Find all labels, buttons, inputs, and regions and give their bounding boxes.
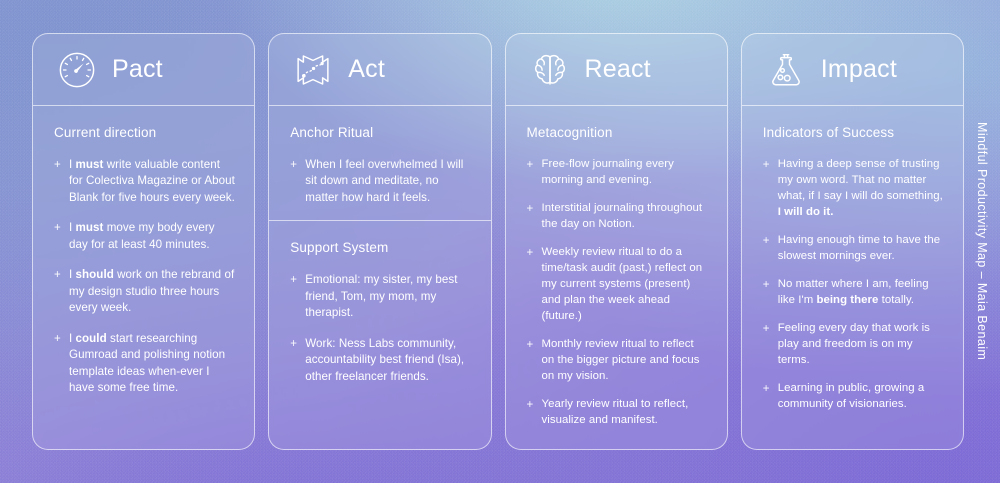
card-body-act: Anchor Ritual+When I feel overwhelmed I … <box>269 106 490 449</box>
card-title-act: Act <box>348 57 385 82</box>
bullet-item[interactable]: +Having enough time to have the slowest … <box>763 233 945 265</box>
card-body-pact: Current direction+I must write valuable … <box>33 106 254 449</box>
section-impact-0: Indicators of Success+Having a deep sens… <box>742 106 963 417</box>
bullet-item[interactable]: +Feeling every day that work is play and… <box>763 321 945 369</box>
section-react-0: Metacognition+Free-flow journaling every… <box>506 106 727 433</box>
bullet-marker-icon: + <box>763 381 770 413</box>
bullet-marker-icon: + <box>54 157 61 206</box>
bullet-item[interactable]: +I could start researching Gumroad and p… <box>54 331 236 397</box>
bullet-text: When I feel overwhelmed I will sit down … <box>305 157 472 206</box>
bullet-item[interactable]: +Free-flow journaling every morning and … <box>527 157 709 189</box>
bullet-list: +Emotional: my sister, my best friend, T… <box>290 272 472 385</box>
bullet-marker-icon: + <box>527 337 534 385</box>
bullet-text: Monthly review ritual to reflect on the … <box>542 337 709 385</box>
card-header-react: React <box>506 34 727 106</box>
bullet-item[interactable]: +Yearly review ritual to reflect, visual… <box>527 397 709 429</box>
bullet-text: Emotional: my sister, my best friend, To… <box>305 272 472 321</box>
bullet-item[interactable]: +I must write valuable content for Colec… <box>54 157 236 206</box>
bullet-marker-icon: + <box>527 245 534 325</box>
bullet-list: +Free-flow journaling every morning and … <box>527 157 709 429</box>
bullet-marker-icon: + <box>763 277 770 309</box>
bullet-list: +Having a deep sense of trusting my own … <box>763 157 945 413</box>
bullet-marker-icon: + <box>527 201 534 233</box>
card-body-react: Metacognition+Free-flow journaling every… <box>506 106 727 449</box>
bullet-marker-icon: + <box>763 321 770 369</box>
bullet-item[interactable]: +Monthly review ritual to reflect on the… <box>527 337 709 385</box>
bullet-text: Yearly review ritual to reflect, visuali… <box>542 397 709 429</box>
bullet-text: I should work on the rebrand of my desig… <box>69 267 236 316</box>
bullet-marker-icon: + <box>290 157 297 206</box>
section-title: Support System <box>290 240 472 255</box>
card-header-impact: Impact <box>742 34 963 106</box>
bullet-text: Free-flow journaling every morning and e… <box>542 157 709 189</box>
bullet-text: I must write valuable content for Colect… <box>69 157 236 206</box>
bullet-item[interactable]: +I should work on the rebrand of my desi… <box>54 267 236 316</box>
bullet-marker-icon: + <box>763 157 770 221</box>
bullet-text: I must move my body every day for at lea… <box>69 220 236 253</box>
section-title: Current direction <box>54 125 236 140</box>
card-title-react: React <box>585 57 651 82</box>
bullet-marker-icon: + <box>763 233 770 265</box>
card-act[interactable]: ActAnchor Ritual+When I feel overwhelmed… <box>268 33 491 450</box>
bullet-marker-icon: + <box>290 272 297 321</box>
section-act-0: Anchor Ritual+When I feel overwhelmed I … <box>269 106 490 210</box>
map-route-icon <box>291 48 335 92</box>
section-act-1: Support System+Emotional: my sister, my … <box>269 220 490 389</box>
bullet-text: I could start researching Gumroad and po… <box>69 331 236 397</box>
bullet-list: +I must write valuable content for Colec… <box>54 157 236 396</box>
card-header-pact: Pact <box>33 34 254 106</box>
card-pact[interactable]: PactCurrent direction+I must write valua… <box>32 33 255 450</box>
card-grid: PactCurrent direction+I must write valua… <box>32 33 964 450</box>
section-title: Anchor Ritual <box>290 125 472 140</box>
bullet-item[interactable]: +Interstitial journaling throughout the … <box>527 201 709 233</box>
bullet-marker-icon: + <box>527 397 534 429</box>
bullet-marker-icon: + <box>527 157 534 189</box>
bullet-text: No matter where I am, feeling like I'm b… <box>778 277 945 309</box>
section-title: Indicators of Success <box>763 125 945 140</box>
bullet-text: Having enough time to have the slowest m… <box>778 233 945 265</box>
card-title-pact: Pact <box>112 57 163 82</box>
bullet-item[interactable]: +Learning in public, growing a community… <box>763 381 945 413</box>
flask-icon <box>764 48 808 92</box>
bullet-item[interactable]: +Having a deep sense of trusting my own … <box>763 157 945 221</box>
card-header-act: Act <box>269 34 490 106</box>
bullet-text: Interstitial journaling throughout the d… <box>542 201 709 233</box>
bullet-text: Feeling every day that work is play and … <box>778 321 945 369</box>
card-body-impact: Indicators of Success+Having a deep sens… <box>742 106 963 449</box>
bullet-item[interactable]: +Work: Ness Labs community, accountabili… <box>290 336 472 385</box>
bullet-list: +When I feel overwhelmed I will sit down… <box>290 157 472 206</box>
bullet-text: Work: Ness Labs community, accountabilit… <box>305 336 472 385</box>
card-title-impact: Impact <box>821 57 897 82</box>
speedometer-icon <box>55 48 99 92</box>
bullet-marker-icon: + <box>54 267 61 316</box>
section-pact-0: Current direction+I must write valuable … <box>33 106 254 400</box>
card-react[interactable]: ReactMetacognition+Free-flow journaling … <box>505 33 728 450</box>
bullet-item[interactable]: +Emotional: my sister, my best friend, T… <box>290 272 472 321</box>
bullet-marker-icon: + <box>54 331 61 397</box>
bullet-text: Weekly review ritual to do a time/task a… <box>542 245 709 325</box>
bullet-marker-icon: + <box>290 336 297 385</box>
bullet-item[interactable]: +I must move my body every day for at le… <box>54 220 236 253</box>
section-title: Metacognition <box>527 125 709 140</box>
brain-icon <box>528 48 572 92</box>
bullet-item[interactable]: +Weekly review ritual to do a time/task … <box>527 245 709 325</box>
bullet-item[interactable]: +No matter where I am, feeling like I'm … <box>763 277 945 309</box>
bullet-item[interactable]: +When I feel overwhelmed I will sit down… <box>290 157 472 206</box>
card-impact[interactable]: ImpactIndicators of Success+Having a dee… <box>741 33 964 450</box>
bullet-text: Learning in public, growing a community … <box>778 381 945 413</box>
bullet-marker-icon: + <box>54 220 61 253</box>
bullet-text: Having a deep sense of trusting my own w… <box>778 157 945 221</box>
